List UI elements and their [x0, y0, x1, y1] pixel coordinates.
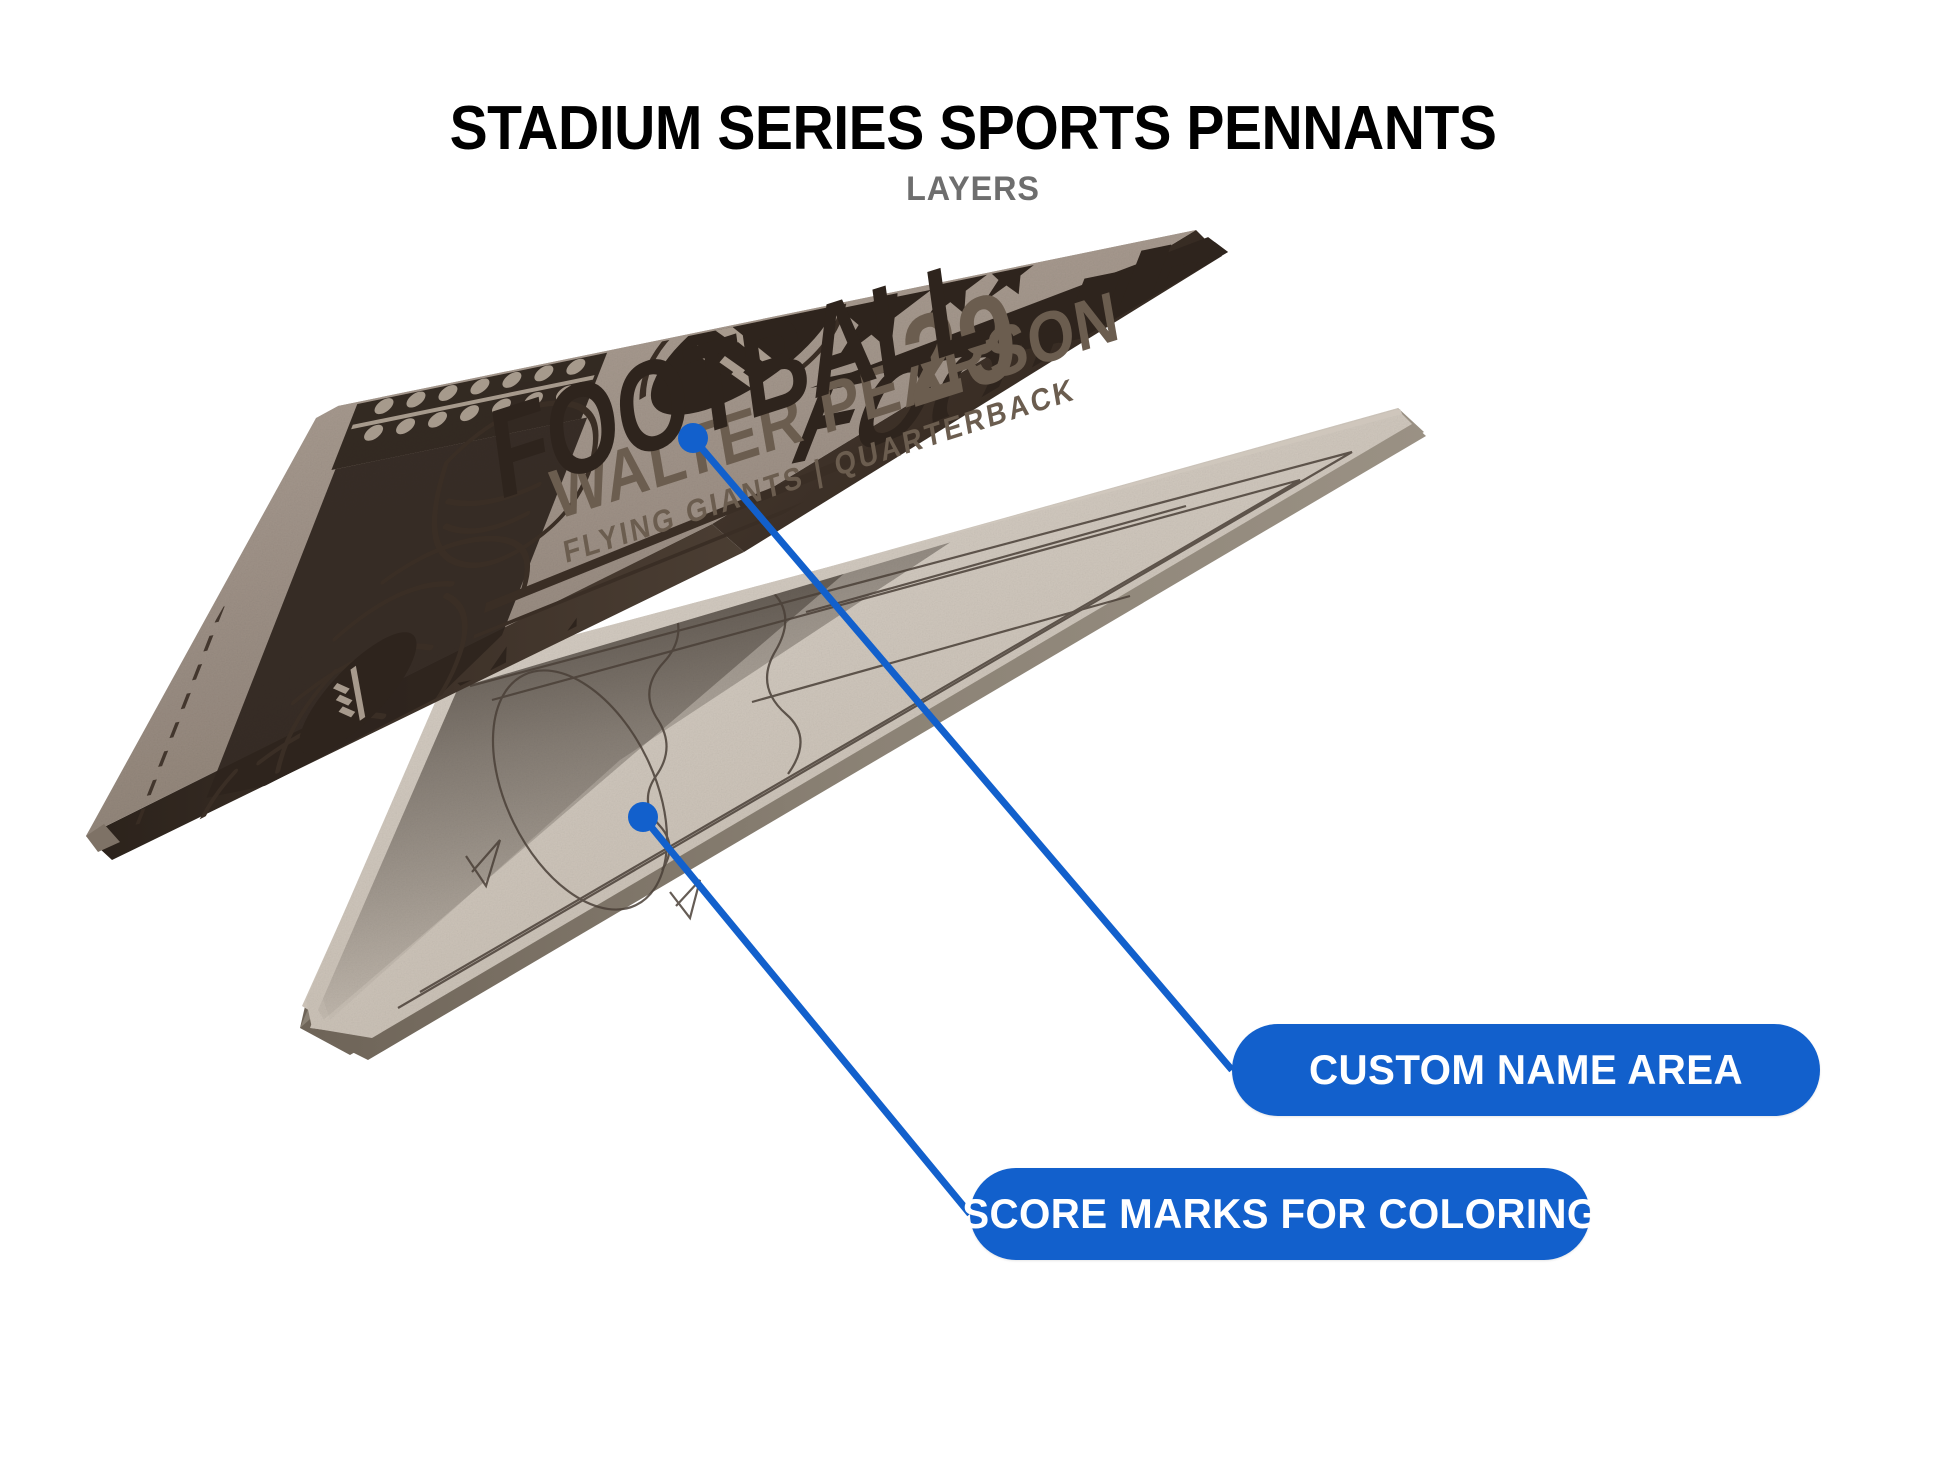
leader-dot-name — [678, 423, 708, 453]
callout-score-marks-label: SCORE MARKS FOR COLORING — [962, 1190, 1598, 1238]
callout-custom-name-area[interactable]: CUSTOM NAME AREA — [1232, 1024, 1820, 1116]
callout-score-marks[interactable]: SCORE MARKS FOR COLORING — [970, 1168, 1590, 1260]
callout-custom-name-area-label: CUSTOM NAME AREA — [1309, 1046, 1743, 1094]
corner-star — [1266, 177, 1339, 241]
leader-dot-score — [628, 802, 658, 832]
leader-line-score — [643, 817, 970, 1214]
poster-canvas: STADIUM SERIES SPORTS PENNANTS LAYERS — [0, 0, 1946, 1460]
product-illustration: FOOTBALL — [0, 0, 1946, 1460]
